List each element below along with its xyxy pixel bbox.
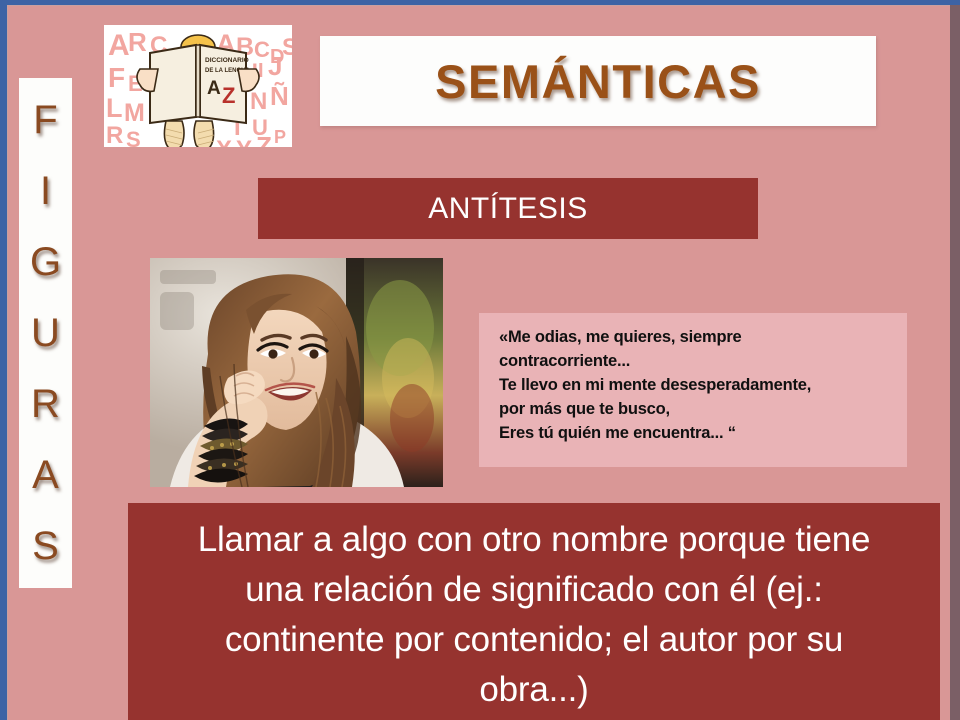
quote-line: Te llevo en mi mente desesperadamente, — [499, 373, 893, 397]
svg-text:A: A — [108, 29, 130, 62]
svg-text:X: X — [108, 146, 124, 147]
subtitle-label: ANTÍTESIS — [428, 192, 588, 226]
svg-text:P: P — [274, 127, 286, 147]
definition-line: obra...) — [479, 665, 588, 715]
subtitle-banner: ANTÍTESIS — [258, 178, 758, 239]
definition-box: Llamar a algo con otro nombre porque tie… — [128, 503, 940, 720]
window-right-edge — [950, 5, 960, 720]
figuras-letter: U — [31, 313, 60, 353]
portrait-photo — [150, 258, 443, 487]
svg-text:A: A — [207, 78, 221, 99]
svg-text:R: R — [106, 122, 123, 147]
svg-text:S: S — [282, 34, 292, 61]
quote-line: Eres tú quién me encuentra... “ — [499, 421, 893, 445]
figuras-letter: F — [33, 100, 57, 140]
definition-line: Llamar a algo con otro nombre porque tie… — [198, 515, 871, 565]
window-top-edge — [7, 0, 960, 5]
figuras-letter: A — [32, 455, 59, 495]
dictionary-clipart-image: A R C A B C D F E S G H I J L M M N Ñ R — [104, 25, 292, 147]
quote-line: por más que te busco, — [499, 397, 893, 421]
figuras-letter: I — [40, 171, 51, 211]
definition-line: continente por contenido; el autor por s… — [225, 615, 843, 665]
svg-text:R: R — [128, 27, 147, 57]
svg-text:Y: Y — [128, 144, 144, 147]
svg-text:J: J — [268, 51, 282, 81]
quote-box: «Me odias, me quieres, siempre contracor… — [479, 313, 907, 467]
svg-text:L: L — [106, 93, 123, 123]
svg-text:Y: Y — [236, 136, 252, 147]
svg-text:Z: Z — [222, 83, 235, 108]
quote-line: «Me odias, me quieres, siempre — [499, 325, 893, 349]
figuras-letter: S — [32, 526, 59, 566]
definition-line: una relación de significado con él (ej.: — [245, 565, 823, 615]
svg-text:M: M — [124, 99, 145, 127]
slide-canvas: F I G U R A S A R C A B C D F E S G H I — [0, 0, 960, 720]
page-title: SEMÁNTICAS — [435, 54, 761, 109]
svg-text:Ñ: Ñ — [270, 81, 289, 111]
svg-text:N: N — [250, 88, 267, 115]
quote-line: contracorriente... — [499, 349, 893, 373]
figuras-letter: R — [31, 384, 60, 424]
figuras-letter: G — [30, 242, 61, 282]
slide-title-box: SEMÁNTICAS — [320, 36, 876, 126]
svg-text:X: X — [216, 136, 232, 147]
svg-text:F: F — [108, 62, 125, 93]
svg-text:Z: Z — [256, 131, 272, 147]
window-left-edge — [0, 0, 7, 720]
svg-text:DICCIONARIO: DICCIONARIO — [205, 57, 249, 64]
figuras-vertical-title: F I G U R A S — [19, 78, 72, 588]
